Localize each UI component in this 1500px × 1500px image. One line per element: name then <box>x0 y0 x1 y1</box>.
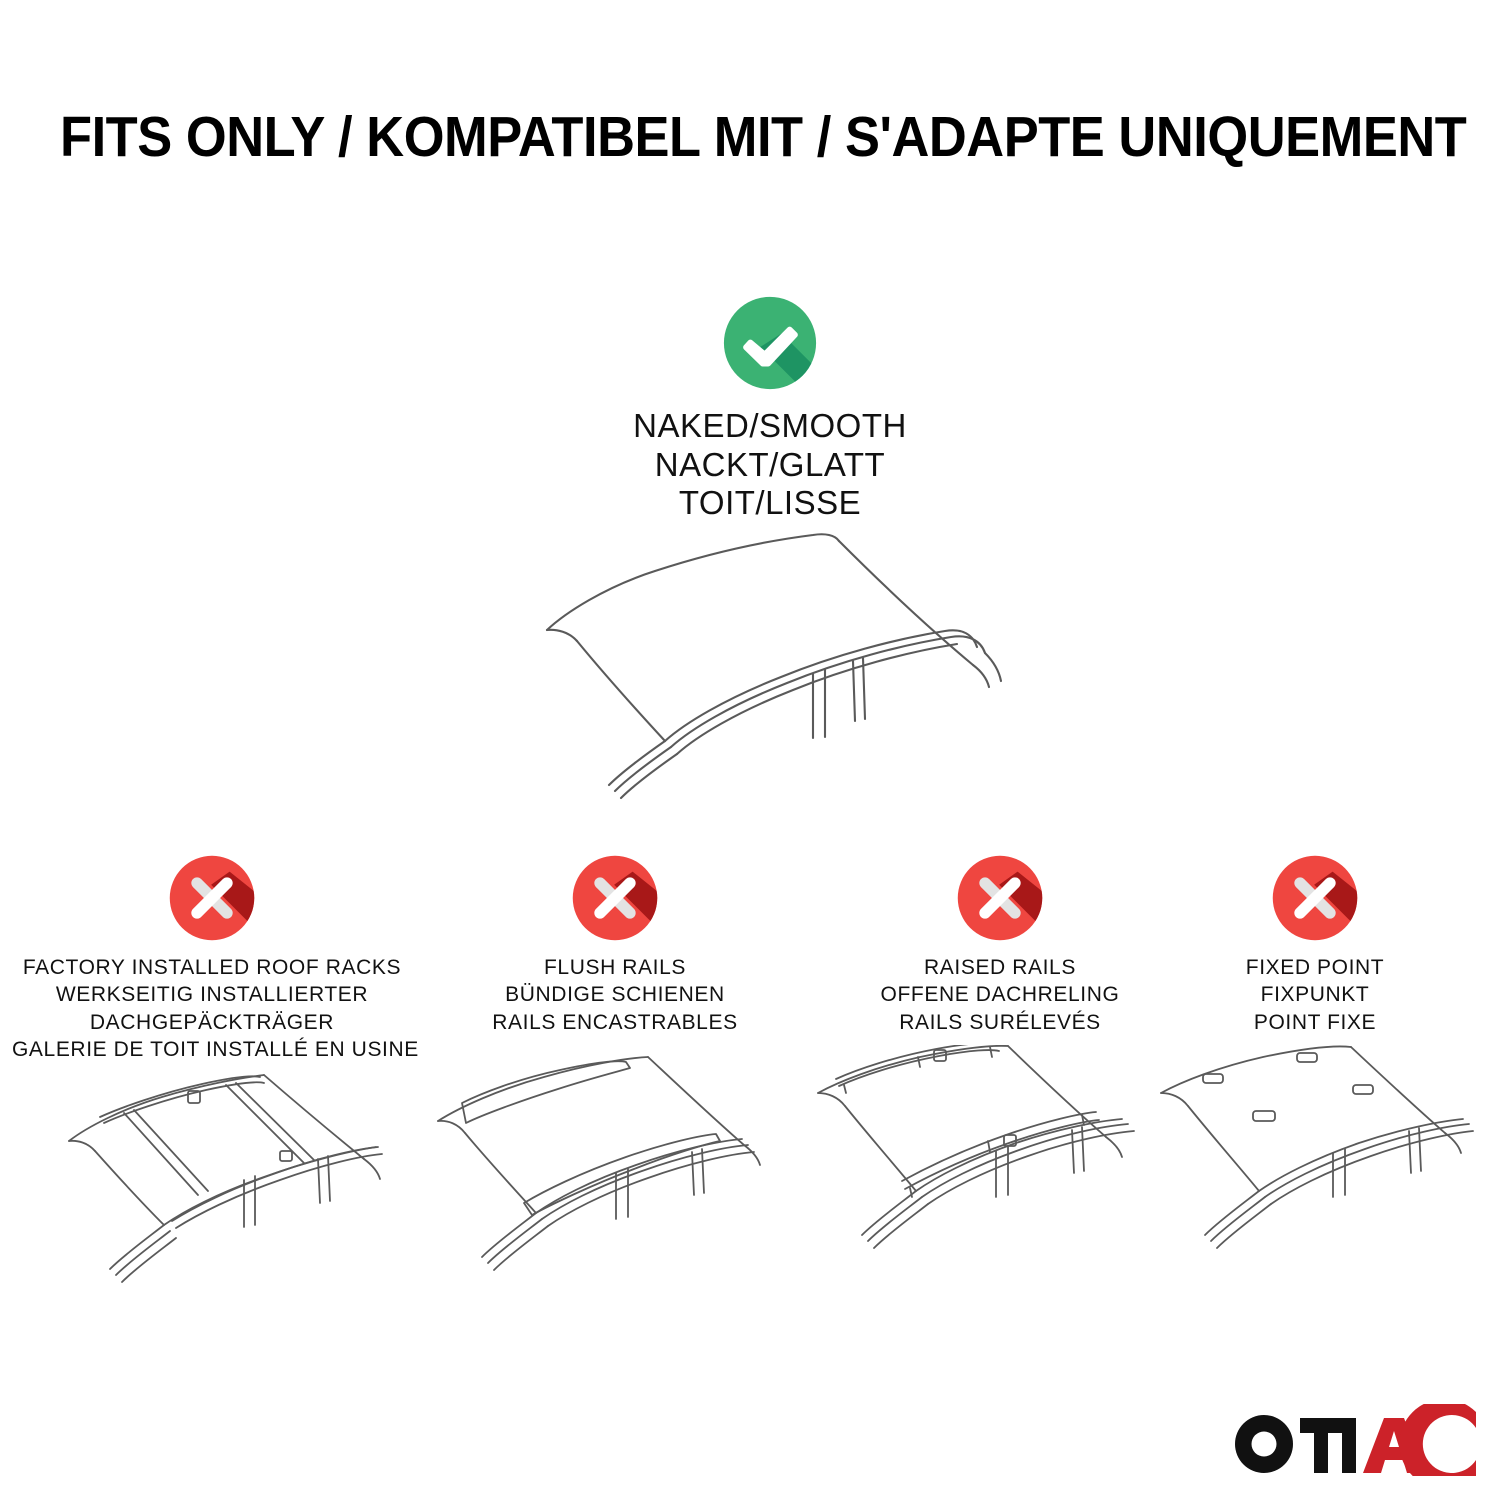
incompatible-label: FLUSH RAILS BÜNDIGE SCHIENEN RAILS ENCAS… <box>430 954 800 1036</box>
label-line-1: FLUSH RAILS <box>430 954 800 981</box>
compatible-label: NAKED/SMOOTH NACKT/GLATT TOIT/LISSE <box>520 407 1020 523</box>
cross-circle-icon <box>571 854 659 942</box>
logo-text: OMAC <box>1232 1404 1280 1408</box>
logo-letter-c <box>1399 1404 1480 1476</box>
compatible-block: NAKED/SMOOTH NACKT/GLATT TOIT/LISSE <box>520 295 1020 523</box>
label-line-1: FACTORY INSTALLED ROOF RACKS <box>12 954 412 981</box>
car-roof-factory-rack-illustration <box>12 1055 412 1285</box>
incompatible-label: FIXED POINT FIXPUNKT POINT FIXE <box>1190 954 1440 1036</box>
logo-letter-m <box>1300 1418 1356 1473</box>
compatible-label-line-1: NAKED/SMOOTH <box>520 407 1020 446</box>
incompatible-item-raised-rails: RAISED RAILS OFFENE DACHRELING RAILS SUR… <box>820 840 1180 1036</box>
compatible-label-line-2: NACKT/GLATT <box>520 446 1020 485</box>
label-line-3: RAILS SURÉLEVÉS <box>820 1009 1180 1036</box>
car-roof-fixed-point-illustration <box>1155 1045 1475 1275</box>
cross-circle-icon <box>168 854 256 942</box>
label-line-3: RAILS ENCASTRABLES <box>430 1009 800 1036</box>
label-line-3: POINT FIXE <box>1190 1009 1440 1036</box>
label-line-2: WERKSEITIG INSTALLIERTER <box>12 981 412 1008</box>
label-line-2: OFFENE DACHRELING <box>820 981 1180 1008</box>
label-line-2: BÜNDIGE SCHIENEN <box>430 981 800 1008</box>
incompatible-item-flush-rails: FLUSH RAILS BÜNDIGE SCHIENEN RAILS ENCAS… <box>430 840 800 1036</box>
car-roof-naked-smooth-illustration <box>495 515 1055 805</box>
label-line-2: FIXPUNKT <box>1190 981 1440 1008</box>
page-title: FITS ONLY / KOMPATIBEL MIT / S'ADAPTE UN… <box>60 104 1440 170</box>
label-line-1: RAISED RAILS <box>820 954 1180 981</box>
label-line-3: DACHGEPÄCKTRÄGER <box>12 1009 412 1036</box>
incompatible-item-fixed-point: FIXED POINT FIXPUNKT POINT FIXE <box>1190 840 1440 1036</box>
incompatible-row: FACTORY INSTALLED ROOF RACKS WERKSEITIG … <box>0 840 1500 1380</box>
incompatible-label: FACTORY INSTALLED ROOF RACKS WERKSEITIG … <box>12 954 412 1063</box>
car-roof-raised-rails-illustration <box>810 1045 1190 1275</box>
cross-circle-icon <box>956 854 1044 942</box>
cross-circle-icon <box>1271 854 1359 942</box>
incompatible-item-factory-rack: FACTORY INSTALLED ROOF RACKS WERKSEITIG … <box>12 840 412 1063</box>
omac-logo: OMAC <box>1232 1404 1480 1476</box>
check-circle-icon <box>722 295 818 391</box>
label-line-1: FIXED POINT <box>1190 954 1440 981</box>
incompatible-label: RAISED RAILS OFFENE DACHRELING RAILS SUR… <box>820 954 1180 1036</box>
logo-letter-o <box>1235 1415 1293 1473</box>
car-roof-flush-rails-illustration <box>420 1045 810 1275</box>
